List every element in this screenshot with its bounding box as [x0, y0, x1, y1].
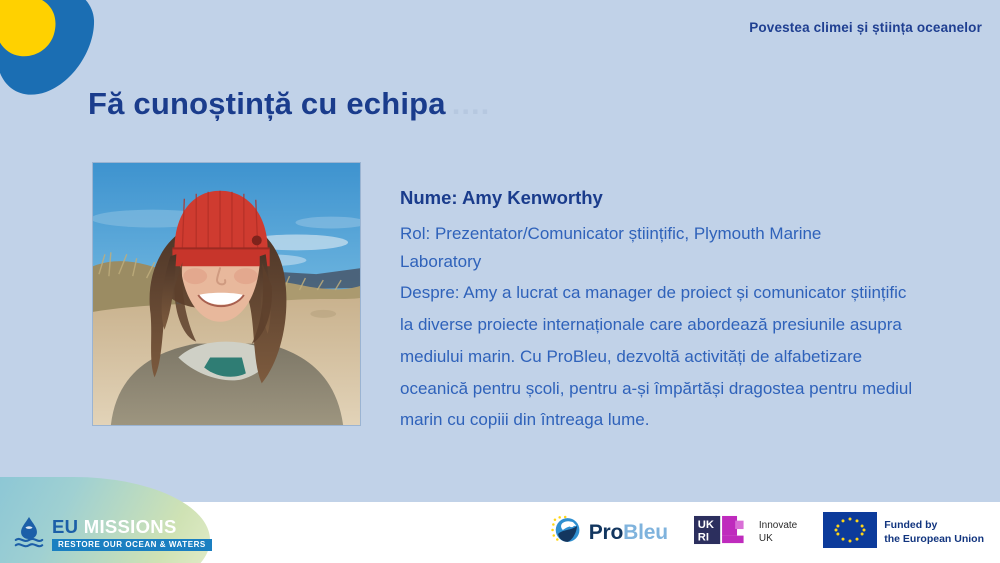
bio-role-line: Rol: Prezentator/Comunicator științific,…	[400, 220, 896, 275]
eu-missions-title: EU MISSIONS	[52, 518, 212, 537]
eu-funded-logo: Funded by the European Union	[823, 512, 984, 553]
probleu-wordmark-bleu: Bleu	[623, 521, 668, 544]
ukri-mark-icon: UK RI	[694, 514, 752, 551]
innovate-uk-line2: UK	[759, 533, 797, 546]
eu-missions-title-eu: EU	[52, 516, 84, 537]
eu-missions-tagline: RESTORE OUR OCEAN & WATERS	[52, 539, 212, 551]
page-title-trailing-dots: ....	[452, 86, 490, 122]
eu-flag-icon	[823, 512, 877, 553]
team-member-photo	[92, 162, 361, 426]
eu-funded-text: Funded by the European Union	[884, 519, 984, 546]
innovate-uk-logo: UK RI Innovate UK	[694, 514, 797, 551]
bio-about-line: Despre: Amy a lucrat ca manager de proie…	[400, 277, 922, 436]
eu-missions-text: EU MISSIONS RESTORE OUR OCEAN & WATERS	[52, 518, 212, 552]
page-title: Fă cunoștință cu echipa ....	[88, 86, 490, 122]
header-eyebrow: Povestea climei și știința oceanelor	[749, 20, 982, 35]
probleu-wordmark: ProBleu	[589, 522, 668, 543]
svg-text:RI: RI	[698, 531, 709, 543]
innovate-uk-text: Innovate UK	[759, 520, 797, 545]
eu-missions-title-missions: MISSIONS	[84, 516, 177, 537]
slide-root: Povestea climei și știința oceanelor Fă …	[0, 0, 1000, 563]
water-drop-waves-icon	[14, 515, 44, 554]
probleu-wordmark-pro: Pro	[589, 521, 623, 544]
eu-funded-line2: the European Union	[884, 533, 984, 547]
eu-missions-logo: EU MISSIONS RESTORE OUR OCEAN & WATERS	[14, 515, 212, 554]
probleu-logo: ProBleu	[550, 515, 668, 550]
footer: EU MISSIONS RESTORE OUR OCEAN & WATERS	[0, 502, 1000, 563]
page-title-text: Fă cunoștință cu echipa	[88, 86, 446, 122]
bio-name-line: Nume: Amy Kenworthy	[400, 186, 930, 209]
innovate-uk-line1: Innovate	[759, 520, 797, 533]
svg-text:UK: UK	[698, 519, 714, 531]
probleu-globe-icon	[550, 515, 582, 550]
team-member-bio: Nume: Amy Kenworthy Rol: Prezentator/Com…	[400, 186, 930, 436]
footer-logo-strip: ProBleu UK RI	[550, 512, 984, 553]
eu-funded-line1: Funded by	[884, 519, 984, 533]
